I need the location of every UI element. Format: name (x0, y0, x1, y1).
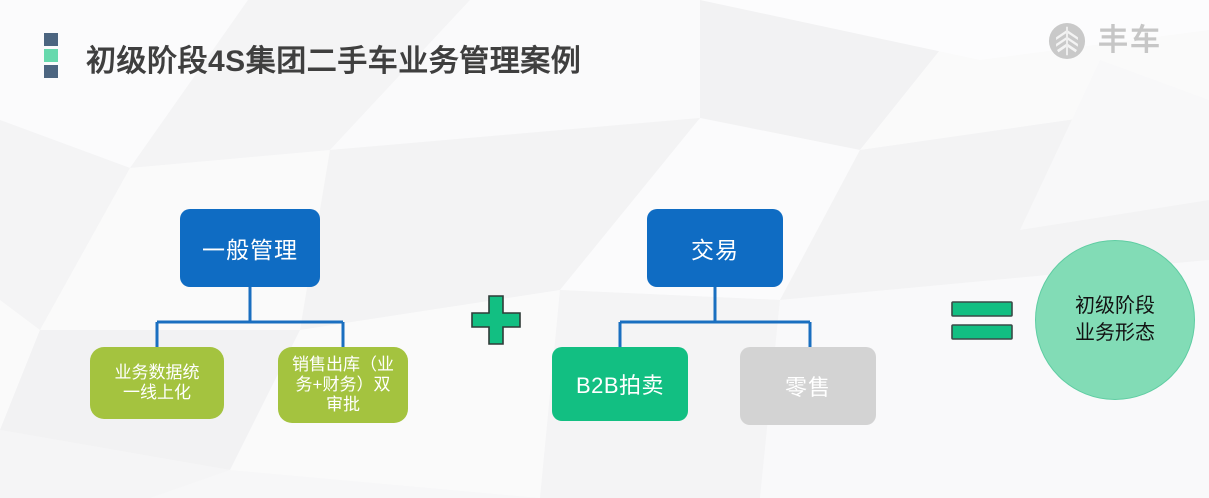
node-label: 销售出库（业 务+财务）双 审批 (292, 355, 394, 415)
node-result-stage[interactable]: 初级阶段 业务形态 (1035, 240, 1195, 400)
node-label: B2B拍卖 (576, 368, 664, 400)
node-label: 一般管理 (202, 231, 298, 265)
node-dual-approval[interactable]: 销售出库（业 务+财务）双 审批 (278, 347, 408, 423)
plus-operator-icon (468, 292, 524, 348)
node-retail[interactable]: 零售 (740, 347, 876, 425)
node-label: 交易 (691, 231, 739, 265)
equals-operator-icon (950, 298, 1014, 344)
node-label: 零售 (785, 370, 831, 402)
node-trade[interactable]: 交易 (647, 209, 783, 287)
node-b2b-auction[interactable]: B2B拍卖 (552, 347, 688, 421)
node-data-online[interactable]: 业务数据统 一线上化 (90, 347, 224, 419)
slide-canvas: 初级阶段4S集团二手车业务管理案例 丰车 (0, 0, 1209, 498)
node-label: 初级阶段 业务形态 (1075, 293, 1155, 347)
node-general-management[interactable]: 一般管理 (180, 209, 320, 287)
node-label: 业务数据统 一线上化 (115, 363, 200, 403)
